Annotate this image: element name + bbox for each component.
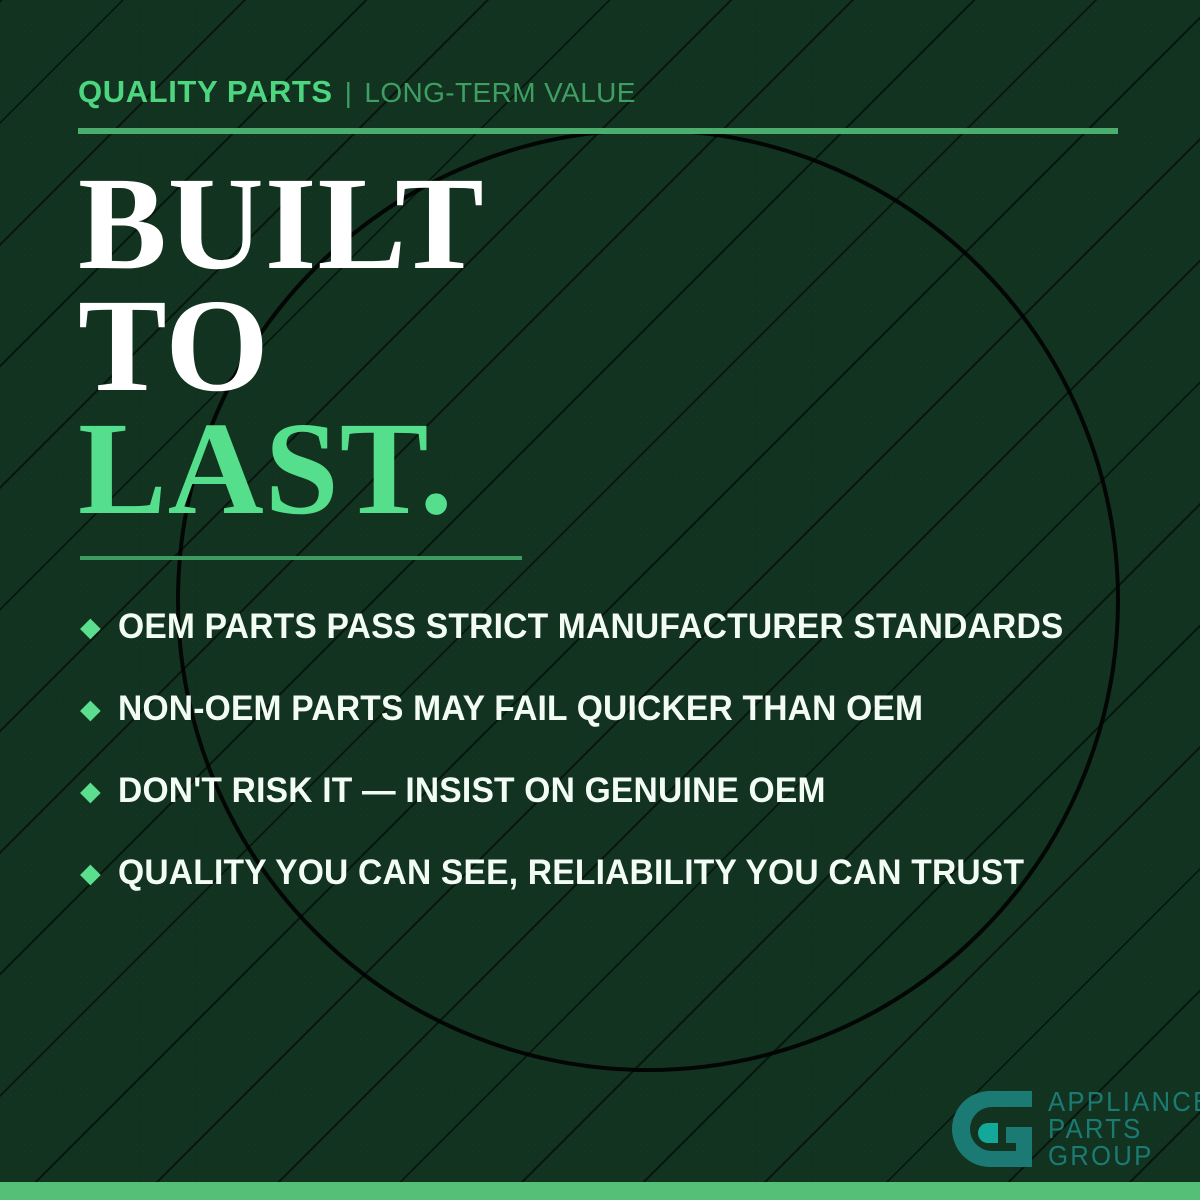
list-item: ◆ OEM PARTS PASS STRICT MANUFACTURER STA… xyxy=(80,586,1160,668)
list-item: ◆ QUALITY YOU CAN SEE, RELIABILITY YOU C… xyxy=(80,832,1160,914)
diamond-bullet-icon: ◆ xyxy=(80,860,101,887)
header-divider-rule xyxy=(78,128,1118,134)
headline-line-3-accent: LAST. xyxy=(78,407,485,529)
diamond-bullet-icon: ◆ xyxy=(80,696,101,723)
headline-line-1: BUILT xyxy=(78,162,485,284)
headline: BUILT TO LAST. xyxy=(78,162,485,529)
list-item: ◆ DON'T RISK IT — INSIST ON GENUINE OEM xyxy=(80,750,1160,832)
list-item: ◆ NON-OEM PARTS MAY FAIL QUICKER THAN OE… xyxy=(80,668,1160,750)
logo-line-1: APPLIANCE xyxy=(1048,1089,1200,1116)
brand-logo: APPLIANCE PARTS GROUP xyxy=(944,1087,1200,1178)
list-item-label: OEM PARTS PASS STRICT MANUFACTURER STAND… xyxy=(118,607,1064,647)
list-item-label: NON-OEM PARTS MAY FAIL QUICKER THAN OEM xyxy=(118,689,923,729)
kicker-strong-text: QUALITY PARTS xyxy=(78,74,333,110)
bottom-accent-bar xyxy=(0,1182,1200,1200)
diamond-bullet-icon: ◆ xyxy=(80,778,101,805)
logo-line-3: GROUP xyxy=(1048,1143,1200,1170)
g-monogram-icon xyxy=(944,1087,1036,1178)
kicker-separator: | xyxy=(345,77,353,109)
kicker-light-text: LONG-TERM VALUE xyxy=(364,77,636,109)
list-item-label: QUALITY YOU CAN SEE, RELIABILITY YOU CAN… xyxy=(118,853,1024,893)
benefit-bullet-list: ◆ OEM PARTS PASS STRICT MANUFACTURER STA… xyxy=(80,586,1160,914)
logo-line-2: PARTS xyxy=(1048,1116,1200,1143)
poster-canvas: QUALITY PARTS | LONG-TERM VALUE BUILT TO… xyxy=(0,0,1200,1200)
headline-line-2: TO xyxy=(78,284,485,406)
headline-divider-rule xyxy=(80,556,522,560)
list-item-label: DON'T RISK IT — INSIST ON GENUINE OEM xyxy=(118,771,826,811)
kicker-eyebrow: QUALITY PARTS | LONG-TERM VALUE xyxy=(78,74,636,110)
diamond-bullet-icon: ◆ xyxy=(80,614,101,641)
logo-wordmark: APPLIANCE PARTS GROUP xyxy=(1048,1087,1200,1170)
